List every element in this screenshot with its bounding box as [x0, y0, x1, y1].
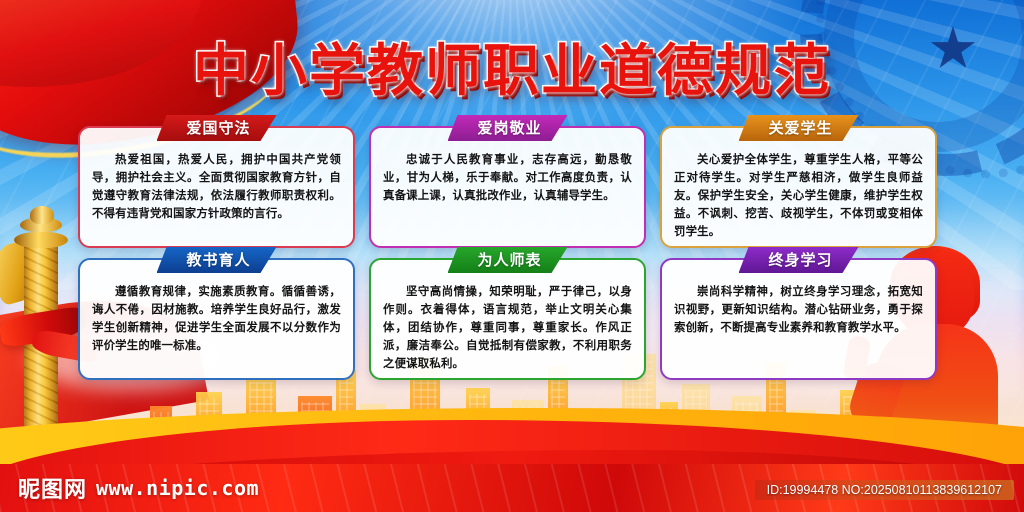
norm-card-body: 坚守高尚情操，知荣明耻，严于律己，以身作则。衣着得体，语言规范，举止文明关心集体…: [383, 282, 632, 372]
norm-card-heading: 爱岗敬业: [447, 115, 567, 141]
norm-card-heading: 关爱学生: [738, 115, 858, 141]
norm-card[interactable]: 关爱学生关心爱护全体学生，尊重学生人格，平等公正对待学生。对学生严慈相济，做学生…: [660, 126, 937, 248]
watermark-url: www.nipic.com: [96, 476, 259, 500]
norm-card[interactable]: 爱岗敬业忠诚于人民教育事业，志存高远，勤恳敬业，甘为人梯，乐于奉献。对工作高度负…: [369, 126, 646, 248]
id-badge: ID:19994478 NO:20250810113839612107: [755, 480, 1014, 500]
norm-card-body: 遵循教育规律，实施素质教育。循循善诱，诲人不倦，因材施教。培养学生良好品行，激发…: [92, 282, 341, 354]
norm-card[interactable]: 爱国守法热爱祖国，热爱人民，拥护中国共产党领导，拥护社会主义。全面贯彻国家教育方…: [78, 126, 355, 248]
norm-card-body: 热爱祖国，热爱人民，拥护中国共产党领导，拥护社会主义。全面贯彻国家教育方针，自觉…: [92, 150, 341, 222]
norm-card-body: 关心爱护全体学生，尊重学生人格，平等公正对待学生。对学生严慈相济，做学生良师益友…: [674, 150, 923, 240]
norm-card-heading: 为人师表: [447, 247, 567, 273]
norms-card-grid: 爱国守法热爱祖国，热爱人民，拥护中国共产党领导，拥护社会主义。全面贯彻国家教育方…: [78, 126, 958, 380]
watermark-brand-cn: 昵图网: [18, 472, 87, 504]
norm-card-body: 崇尚科学精神，树立终身学习理念，拓宽知识视野，更新知识结构。潜心钻研业务，勇于探…: [674, 282, 923, 336]
norm-card[interactable]: 为人师表坚守高尚情操，知荣明耻，严于律己，以身作则。衣着得体，语言规范，举止文明…: [369, 258, 646, 380]
norm-card[interactable]: 教书育人遵循教育规律，实施素质教育。循循善诱，诲人不倦，因材施教。培养学生良好品…: [78, 258, 355, 380]
norm-card-heading: 爱国守法: [156, 115, 276, 141]
watermark: 昵图网 www.nipic.com: [18, 472, 259, 504]
norm-card-heading: 教书育人: [156, 247, 276, 273]
norm-card[interactable]: 终身学习崇尚科学精神，树立终身学习理念，拓宽知识视野，更新知识结构。潜心钻研业务…: [660, 258, 937, 380]
norm-card-body: 忠诚于人民教育事业，志存高远，勤恳敬业，甘为人梯，乐于奉献。对工作高度负责，认真…: [383, 150, 632, 204]
page-title: 中小学教师职业道德规范: [0, 26, 1024, 107]
poster-canvas: 中小学教师职业道德规范 爱国守法热爱祖国，热爱人民，拥护中国共产党领导，拥护社会…: [0, 0, 1024, 512]
norm-card-heading: 终身学习: [738, 247, 858, 273]
pillar-finial: [30, 206, 54, 224]
pillar-cap-lower: [14, 232, 68, 248]
